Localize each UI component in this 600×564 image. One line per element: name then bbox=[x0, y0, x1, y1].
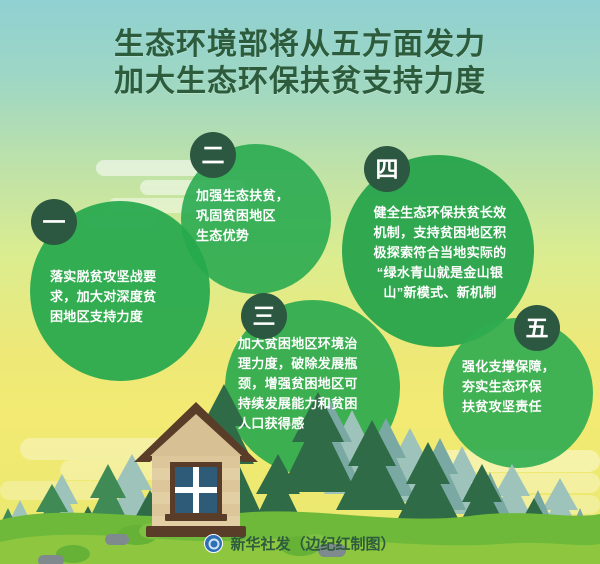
xinhua-logo-icon bbox=[204, 534, 223, 553]
house-illustration bbox=[132, 400, 260, 550]
bubble-text-2: 加强生态扶贫， 巩固贫困地区 生态优势 bbox=[196, 186, 326, 246]
house-window-sill bbox=[165, 514, 227, 521]
credit-text: 新华社发（边纪红制图） bbox=[230, 533, 395, 554]
page-title: 生态环境部将从五方面发力 加大生态环保扶贫支持力度 bbox=[0, 26, 600, 100]
badge-point-2[interactable]: 二 bbox=[190, 132, 236, 178]
badge-point-5[interactable]: 五 bbox=[514, 305, 560, 351]
bubble-text-5: 强化支撑保障， 夯实生态环保 扶贫攻坚责任 bbox=[462, 357, 584, 417]
infographic-poster: 生态环境部将从五方面发力 加大生态环保扶贫支持力度 加强生态扶贫， 巩固贫困地区… bbox=[0, 0, 600, 564]
credit-line: 新华社发（边纪红制图） bbox=[0, 533, 600, 554]
title-line-2: 加大生态环保扶贫支持力度 bbox=[0, 63, 600, 100]
badge-point-1[interactable]: 一 bbox=[31, 199, 77, 245]
bubble-text-3: 加大贫困地区环境治 理力度，破除发展瓶 颈，增强贫困地区可 持续发展能力和贫困 … bbox=[238, 334, 388, 434]
title-line-1: 生态环境部将从五方面发力 bbox=[0, 26, 600, 63]
rock-2 bbox=[38, 555, 64, 564]
badge-point-3[interactable]: 三 bbox=[241, 293, 287, 339]
bubble-text-1: 落实脱贫攻坚战要 求，加大对深度贫 困地区支持力度 bbox=[50, 267, 194, 327]
house-window-mullion-h bbox=[175, 487, 217, 493]
badge-point-4[interactable]: 四 bbox=[364, 146, 410, 192]
bubble-text-4: 健全生态环保扶贫长效 机制，支持贫困地区积 极探索符合当地实际的 “绿水青山就是… bbox=[350, 203, 530, 303]
